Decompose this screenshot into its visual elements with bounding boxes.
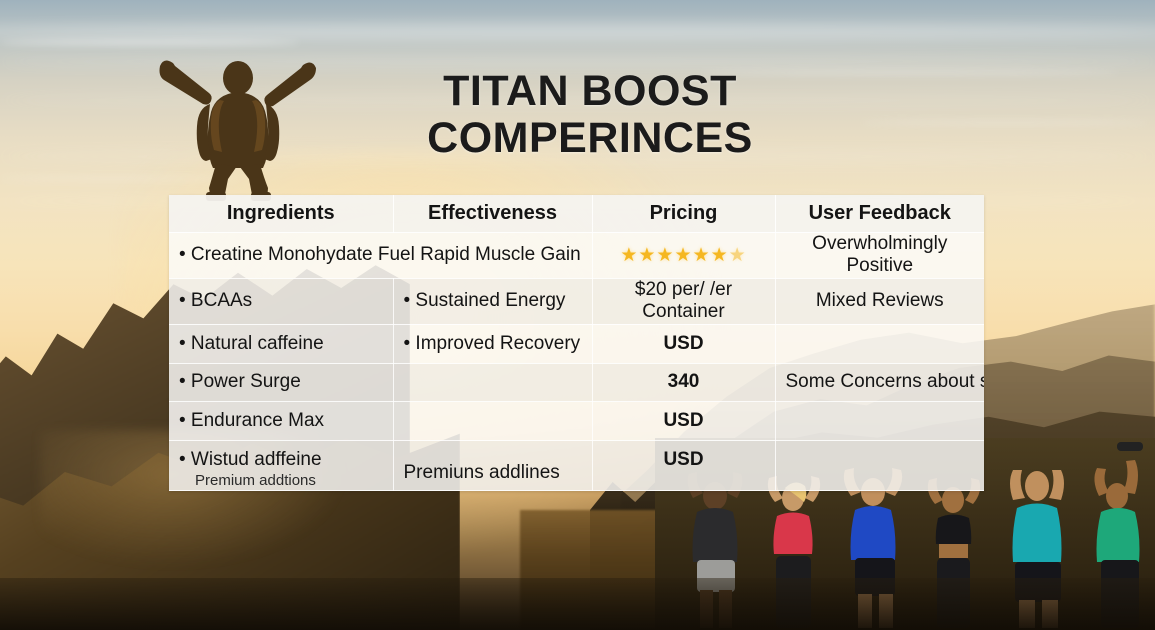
cell-user-feedback (775, 324, 984, 363)
table-row: • Creatine Monohydate Fuel Rapid Muscle … (169, 233, 984, 279)
comparison-table-panel: Ingredients Effectiveness Pricing User F… (169, 195, 984, 491)
cell-ingredients: • BCAAs (169, 278, 393, 324)
cell-ingredients: • Creatine Monohydate Fuel Rapid Muscle … (169, 233, 592, 279)
cell-pricing: 340 (592, 363, 775, 402)
cell-effectiveness (393, 363, 592, 402)
table-row: • Power Surge 340 Some Concerns about si… (169, 363, 984, 402)
bottom-shadow-strip (0, 578, 1155, 630)
cell-ingredients-main: • Wistud adffeine (179, 449, 322, 470)
star-icon: ★ (674, 245, 692, 266)
cell-ingredients: • Endurance Max (169, 402, 393, 441)
star-icon: ★ (638, 245, 656, 266)
page-title: TITAN BOOST COMPERINCES (330, 68, 850, 162)
cloud-streak (860, 120, 1150, 125)
cell-user-feedback: Mixed Reviews (775, 278, 984, 324)
cell-effectiveness: • Sustained Energy (393, 278, 592, 324)
cell-user-feedback: Some Concerns about side effects (775, 363, 984, 402)
cell-user-feedback (775, 402, 984, 441)
table-header-row: Ingredients Effectiveness Pricing User F… (169, 195, 984, 233)
table-row: • BCAAs • Sustained Energy $20 per/ /er … (169, 278, 984, 324)
cell-effectiveness: • Improved Recovery (393, 324, 592, 363)
column-header-user-feedback: User Feedback (775, 195, 984, 233)
cloud-streak (0, 40, 300, 45)
cell-effectiveness (393, 402, 592, 441)
cell-pricing: USD (592, 324, 775, 363)
cell-user-feedback (775, 441, 984, 491)
star-icon: ★ (656, 245, 674, 266)
cell-effectiveness: Premiuns addlines (393, 441, 592, 491)
column-header-ingredients: Ingredients (169, 195, 393, 233)
cell-pricing: $20 per/ /er Container (592, 278, 775, 324)
cloud-band (0, 24, 1155, 40)
cell-pricing-star-rating: ★★★★★★★ (592, 233, 775, 279)
comparison-table: Ingredients Effectiveness Pricing User F… (169, 195, 984, 491)
cell-pricing: USD (592, 402, 775, 441)
cell-ingredients: • Power Surge (169, 363, 393, 402)
cell-pricing: USD (592, 441, 775, 491)
cell-user-feedback: Overwholmingly Positive (775, 233, 984, 279)
star-icon: ★ (711, 245, 729, 266)
column-header-pricing: Pricing (592, 195, 775, 233)
table-row: • Endurance Max USD (169, 402, 984, 441)
cell-ingredients-sub: Premium addtions (179, 472, 383, 489)
hiker-silhouette-icon (148, 52, 328, 202)
star-icon: ★ (693, 245, 711, 266)
title-line-1: TITAN BOOST (443, 67, 737, 115)
cell-ingredients: • Natural caffeine (169, 324, 393, 363)
table-row: • Wistud adffeine Premium addtions Premi… (169, 441, 984, 491)
star-icon: ★ (729, 245, 747, 266)
poster-canvas: TITAN BOOST COMPERINCES (0, 0, 1155, 630)
title-line-2: COMPERINCES (330, 115, 850, 162)
cell-ingredients: • Wistud adffeine Premium addtions (169, 441, 393, 491)
star-icon: ★ (620, 245, 638, 266)
column-header-effectiveness: Effectiveness (393, 195, 592, 233)
table-row: • Natural caffeine • Improved Recovery U… (169, 324, 984, 363)
